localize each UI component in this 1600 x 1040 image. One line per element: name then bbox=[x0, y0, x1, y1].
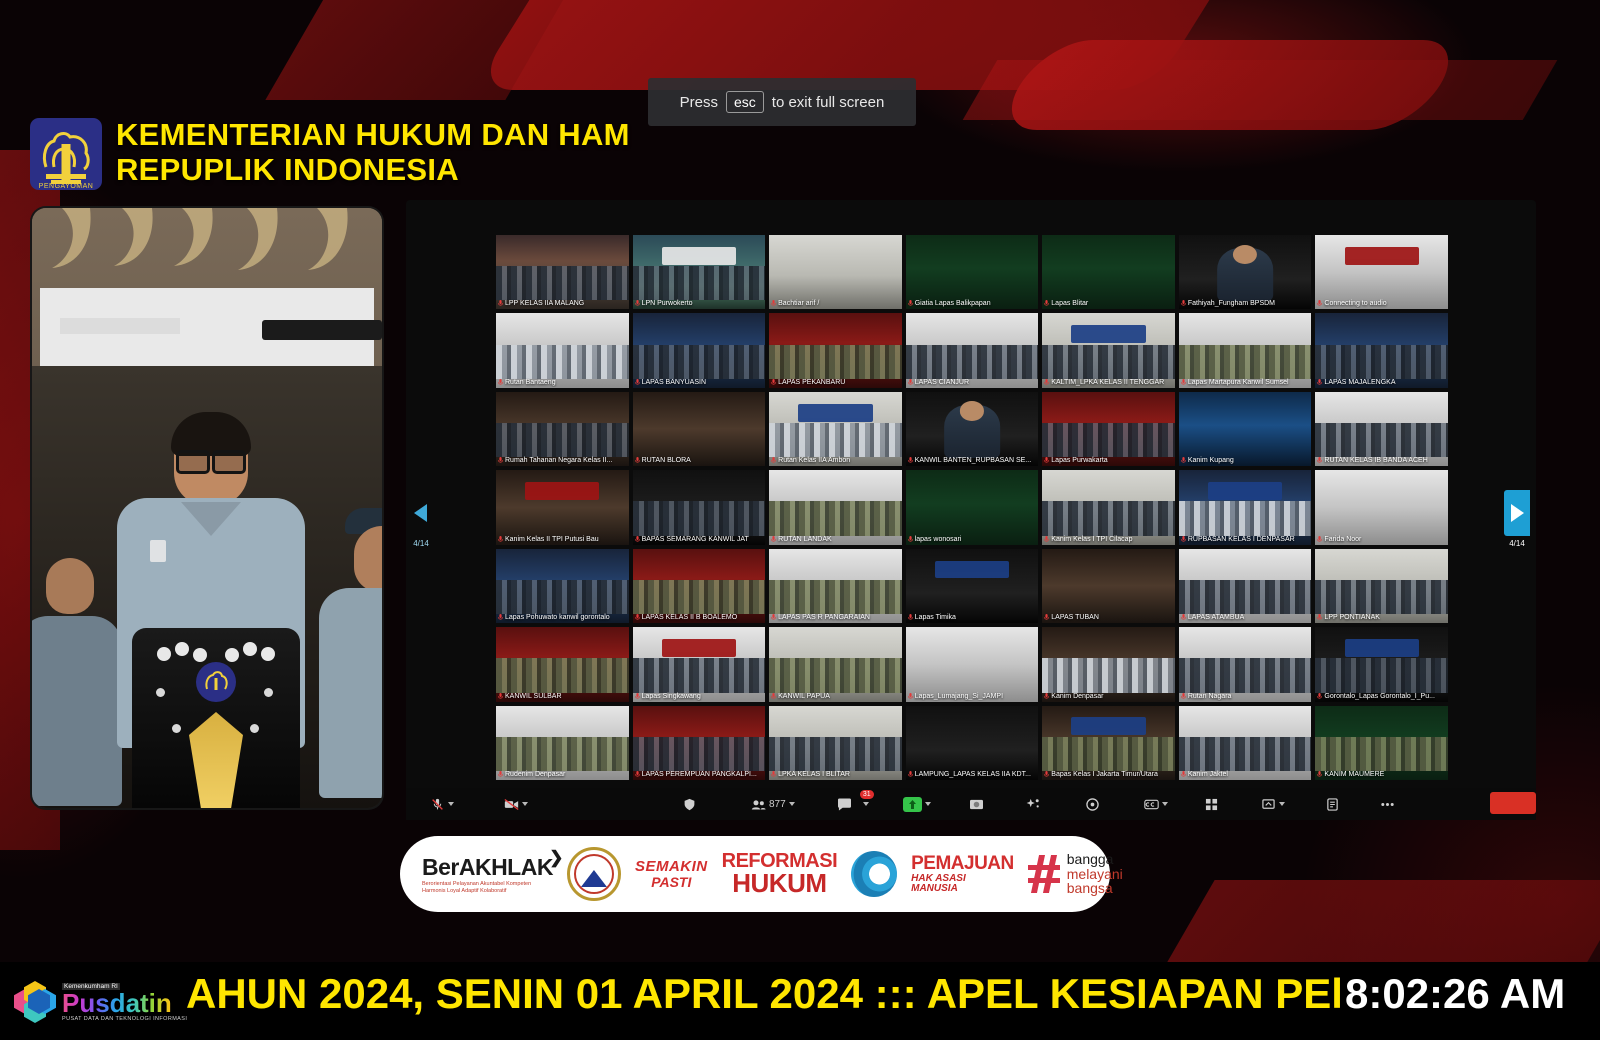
participant-name-label: Bachtiar arif / bbox=[771, 299, 900, 308]
participant-crowd bbox=[1315, 580, 1448, 614]
participant-name-label: Lapas Purwakarta bbox=[1044, 456, 1173, 465]
participant-tile[interactable]: Lapas Singkawang bbox=[633, 627, 766, 701]
participant-name-text: LPKA KELAS I BLITAR bbox=[778, 770, 850, 779]
semakin-line2: PASTI bbox=[635, 875, 708, 890]
participant-name-label: BAPAS SEMARANG KANWIL JAT bbox=[635, 535, 764, 544]
participant-tile[interactable]: LPP PONTIANAK bbox=[1315, 549, 1448, 623]
participant-tile[interactable]: LPP KELAS IIA MALANG bbox=[496, 235, 629, 309]
participant-name-text: LAPAS MAJALENGKA bbox=[1324, 378, 1395, 387]
participant-tile[interactable]: Giatia Lapas Balikpapan bbox=[906, 235, 1039, 309]
microphone-icon bbox=[1181, 614, 1186, 621]
participant-crowd bbox=[769, 658, 902, 692]
participant-name-text: LAPAS PEKANBARU bbox=[778, 378, 845, 387]
pusdatin-hex-icon bbox=[14, 979, 56, 1025]
participant-name-text: LPP KELAS IIA MALANG bbox=[505, 299, 584, 308]
participant-name-label: LPP KELAS IIA MALANG bbox=[498, 299, 627, 308]
projection-screen-strip bbox=[60, 318, 180, 334]
video-button[interactable] bbox=[498, 788, 534, 820]
participant-name-text: Kanim Denpasar bbox=[1051, 692, 1103, 701]
participant-crowd bbox=[496, 737, 629, 771]
participant-tile[interactable]: lapas wonosari bbox=[906, 470, 1039, 544]
participant-tile[interactable]: Lapas Purwakarta bbox=[1042, 392, 1175, 466]
participant-tile[interactable]: Fathiyah_Fungham BPSDM bbox=[1179, 235, 1312, 309]
participant-crowd bbox=[1042, 501, 1175, 535]
participant-tile[interactable]: LAPAS PEREMPUAN PANGKALPI... bbox=[633, 706, 766, 780]
zoom-meeting-window: LPP KELAS IIA MALANGLPN PurwokertoBachti… bbox=[406, 200, 1536, 820]
record-icon bbox=[969, 798, 984, 811]
participant-name-text: Rutan Bantaeng bbox=[505, 378, 556, 387]
participant-name-label: LAPAS PAS R PANGARAIAN bbox=[771, 613, 900, 622]
backdrop-banner bbox=[1345, 247, 1419, 265]
chat-button[interactable]: 31 bbox=[831, 788, 875, 820]
participant-crowd bbox=[1179, 737, 1312, 771]
fullscreen-hint-suffix: to exit full screen bbox=[772, 94, 885, 111]
participant-tile[interactable]: KANWIL BANTEN_RUPBASAN SE... bbox=[906, 392, 1039, 466]
microphone-icon bbox=[498, 771, 503, 778]
participant-tile[interactable]: RUTAN KELAS IB BANDA ACEH bbox=[1315, 392, 1448, 466]
participant-crowd bbox=[633, 501, 766, 535]
participant-name-label: Kanim Jaktel bbox=[1181, 770, 1310, 779]
microphone-icon bbox=[498, 300, 503, 307]
participant-name-text: Lapas Purwakarta bbox=[1051, 456, 1107, 465]
microphone-icon bbox=[771, 379, 776, 386]
screen: Press esc to exit full screen PENGAYOMAN… bbox=[0, 0, 1600, 1040]
participant-tile[interactable]: LAPAS TUBAN bbox=[1042, 549, 1175, 623]
participant-name-text: KALTIM_LPKA KELAS II TENGGAR bbox=[1051, 378, 1164, 387]
microphone-icon bbox=[1181, 536, 1186, 543]
backdrop-banner bbox=[1345, 639, 1419, 657]
participant-name-label: Lapas Blitar bbox=[1044, 299, 1173, 308]
check-mark-icon: ❯ bbox=[549, 848, 563, 868]
participant-video bbox=[1042, 235, 1175, 309]
microphone-icon bbox=[1317, 771, 1322, 778]
participant-name-label: RUTAN LANDAK bbox=[771, 535, 900, 544]
participant-tile[interactable]: LPN Purwokerto bbox=[633, 235, 766, 309]
participant-name-text: LAPAS CIANJUR bbox=[915, 378, 969, 387]
apps-button[interactable] bbox=[1079, 788, 1106, 820]
microphone-icon bbox=[1181, 693, 1186, 700]
participant-name-text: Giatia Lapas Balikpapan bbox=[915, 299, 991, 308]
participant-name-text: RUTAN KELAS IB BANDA ACEH bbox=[1324, 456, 1427, 465]
participant-tile[interactable]: LAPAS CIANJUR bbox=[906, 313, 1039, 387]
participant-name-label: Kanim Kupang bbox=[1181, 456, 1310, 465]
microphone-icon bbox=[1317, 614, 1322, 621]
chevron-up-icon[interactable] bbox=[1162, 802, 1168, 806]
participant-crowd bbox=[1179, 345, 1312, 379]
participant-name-label: RUTAN BLORA bbox=[635, 456, 764, 465]
participant-name-label: Fathiyah_Fungham BPSDM bbox=[1181, 299, 1310, 308]
participant-name-text: Fathiyah_Fungham BPSDM bbox=[1188, 299, 1275, 308]
chevron-up-icon[interactable] bbox=[522, 802, 528, 806]
participant-tile[interactable]: Kanim Kupang bbox=[1179, 392, 1312, 466]
microphone-icon bbox=[1044, 379, 1049, 386]
microphone-icon bbox=[908, 614, 913, 621]
reactions-sparkle-icon bbox=[1026, 798, 1041, 811]
participant-tile[interactable]: Rudenim Denpasar bbox=[496, 706, 629, 780]
participant-crowd bbox=[1315, 737, 1448, 771]
participant-crowd bbox=[633, 658, 766, 692]
podium bbox=[132, 628, 300, 808]
grid-view-icon bbox=[1204, 798, 1219, 811]
backdrop-banner bbox=[798, 404, 872, 422]
participant-name-text: LAPAS TUBAN bbox=[1051, 613, 1099, 622]
participant-name-text: LAMPUNG_LAPAS KELAS IIA KDT... bbox=[915, 770, 1031, 779]
participant-tile[interactable]: LAPAS PEKANBARU bbox=[769, 313, 902, 387]
participant-crowd bbox=[496, 658, 629, 692]
campaign-banner: BerAKHLAK ❯ Berorientasi Pelayanan Akunt… bbox=[400, 836, 1110, 912]
participant-name-text: RUTAN BLORA bbox=[642, 456, 691, 465]
share-screen-button[interactable] bbox=[897, 788, 937, 820]
microphone-icon bbox=[635, 379, 640, 386]
previous-page-arrow[interactable]: 4/14 bbox=[408, 490, 434, 536]
microphone-icon bbox=[908, 457, 913, 464]
participant-video bbox=[1042, 549, 1175, 623]
participant-name-text: BAPAS SEMARANG KANWIL JAT bbox=[642, 535, 749, 544]
zoom-toolbar: 877 31 bbox=[406, 788, 1536, 820]
participant-crowd bbox=[1042, 737, 1175, 771]
berakhlak-logo: BerAKHLAK ❯ Berorientasi Pelayanan Akunt… bbox=[422, 854, 553, 895]
microphone-icon bbox=[1181, 457, 1186, 464]
chat-unread-badge: 31 bbox=[860, 790, 874, 799]
podium-emblem-glyph bbox=[203, 669, 229, 695]
chevron-up-icon[interactable] bbox=[925, 802, 931, 806]
backdrop-banner bbox=[662, 247, 736, 265]
participant-tile[interactable]: Lapas_Lumajang_Si_JAMPI bbox=[906, 627, 1039, 701]
participant-tile[interactable]: Lapas Pohuwato kanwil gorontalo bbox=[496, 549, 629, 623]
participant-name-label: LPKA KELAS I BLITAR bbox=[771, 770, 900, 779]
participant-name-text: RUPBASAN KELAS I DENPASAR bbox=[1188, 535, 1295, 544]
participant-name-text: Farida Noor bbox=[1324, 535, 1361, 544]
participant-name-text: Lapas_Lumajang_Si_JAMPI bbox=[915, 692, 1003, 701]
triangle-left-icon bbox=[414, 504, 428, 522]
participant-tile[interactable]: KANWIL SULBAR bbox=[496, 627, 629, 701]
participant-tile[interactable]: Lapas Timika bbox=[906, 549, 1039, 623]
attendee-head bbox=[354, 526, 382, 592]
participant-name-label: Kanim Kelas I TPI Cilacap bbox=[1044, 535, 1173, 544]
participant-crowd bbox=[633, 345, 766, 379]
participant-crowd bbox=[769, 737, 902, 771]
participant-name-label: Lapas_Lumajang_Si_JAMPI bbox=[908, 692, 1037, 701]
participant-name-label: LAPAS MAJALENGKA bbox=[1317, 378, 1446, 387]
microphone-icon bbox=[635, 457, 640, 464]
participants-count: 877 bbox=[769, 799, 786, 810]
participant-grid: LPP KELAS IIA MALANGLPN PurwokertoBachti… bbox=[496, 235, 1448, 780]
microphone-icon bbox=[1181, 379, 1186, 386]
microphone-icon bbox=[1044, 457, 1049, 464]
pusdatin-name: Pusdatin bbox=[62, 990, 187, 1016]
microphone-icon bbox=[1044, 771, 1049, 778]
backdrop-banner bbox=[1071, 325, 1145, 343]
participant-tile[interactable]: KALTIM_LPKA KELAS II TENGGAR bbox=[1042, 313, 1175, 387]
participant-crowd bbox=[769, 501, 902, 535]
participant-video bbox=[633, 392, 766, 466]
pemajuan-line1: PEMAJUAN bbox=[911, 854, 1014, 873]
participant-crowd bbox=[1179, 658, 1312, 692]
bangga-line3: bangsa bbox=[1067, 881, 1123, 896]
participant-name-label: Lapas Singkawang bbox=[635, 692, 764, 701]
participant-tile[interactable]: Lapas Blitar bbox=[1042, 235, 1175, 309]
participant-crowd bbox=[1042, 345, 1175, 379]
record-button[interactable] bbox=[963, 788, 990, 820]
participant-tile[interactable]: Kanim Kelas II TPI Putusi Bau bbox=[496, 470, 629, 544]
participant-tile[interactable]: LAPAS PAS R PANGARAIAN bbox=[769, 549, 902, 623]
logo-caption: PENGAYOMAN bbox=[30, 183, 102, 190]
participant-tile[interactable]: Farida Noor bbox=[1315, 470, 1448, 544]
microphone-icon bbox=[1044, 614, 1049, 621]
podium-dot bbox=[156, 688, 165, 697]
participant-tile[interactable]: Lapas Martapura Kanwil Sumsel bbox=[1179, 313, 1312, 387]
security-button[interactable] bbox=[676, 788, 703, 820]
ticker-text: AHUN 2024, SENIN 01 APRIL 2024 ::: APEL … bbox=[186, 970, 1343, 1018]
participant-video bbox=[906, 235, 1039, 309]
participant-tile[interactable]: Bachtiar arif / bbox=[769, 235, 902, 309]
participant-tile[interactable]: LPKA KELAS I BLITAR bbox=[769, 706, 902, 780]
berakhlak-subtitle: Berorientasi Pelayanan Akuntabel Kompete… bbox=[422, 881, 553, 895]
semakin-pasti-logo: SEMAKIN PASTI bbox=[635, 859, 708, 889]
participant-name-text: Kanim Kupang bbox=[1188, 456, 1234, 465]
upload-arrow-icon bbox=[907, 799, 918, 810]
podium-motif bbox=[189, 712, 243, 808]
view-button[interactable] bbox=[1198, 788, 1225, 820]
participant-name-text: LPP PONTIANAK bbox=[1324, 613, 1380, 622]
eyeglasses-icon bbox=[176, 450, 246, 468]
fullscreen-hint-banner: Press esc to exit full screen bbox=[648, 78, 916, 126]
whiteboard-icon bbox=[1261, 798, 1276, 811]
chevron-up-icon[interactable] bbox=[448, 802, 454, 806]
participant-crowd bbox=[496, 266, 629, 300]
microphone-icon bbox=[771, 693, 776, 700]
page-title: KEMENTERIAN HUKUM DAN HAM REPUPLIK INDON… bbox=[116, 118, 630, 187]
pusdatin-text: Kemenkumham RI Pusdatin PUSAT DATA DAN T… bbox=[62, 983, 187, 1022]
captions-button[interactable] bbox=[1138, 788, 1174, 820]
participant-tile[interactable]: LAPAS BANYUASIN bbox=[633, 313, 766, 387]
participant-tile[interactable]: Rutan Nagara bbox=[1179, 627, 1312, 701]
closed-captions-icon bbox=[1144, 798, 1159, 811]
backdrop-banner bbox=[935, 561, 1009, 579]
attendee-body bbox=[319, 588, 382, 798]
microphone-icon bbox=[498, 693, 503, 700]
microphone-icon bbox=[635, 300, 640, 307]
microphone-icon bbox=[1317, 693, 1322, 700]
participant-name-text: Lapas Martapura Kanwil Sumsel bbox=[1188, 378, 1289, 387]
clock-display: 8:02:26 AM bbox=[1345, 970, 1565, 1018]
participant-name-label: Farida Noor bbox=[1317, 535, 1446, 544]
participant-name-text: Bapas Kelas I Jakarta Timur/Utara bbox=[1051, 770, 1158, 779]
berakhlak-title: BerAKHLAK ❯ bbox=[422, 854, 553, 881]
participant-name-text: Rutan Nagara bbox=[1188, 692, 1232, 701]
participant-name-text: KANWIL PAPUA bbox=[778, 692, 830, 701]
participant-name-label: Gorontalo_Lapas Gorontalo_I_Pu... bbox=[1317, 692, 1446, 701]
fullscreen-hint-prefix: Press bbox=[680, 94, 718, 111]
participant-tile[interactable]: Kanim Denpasar bbox=[1042, 627, 1175, 701]
triangle-right-icon bbox=[1510, 504, 1524, 522]
speaker-video-feed bbox=[32, 208, 382, 808]
chevron-up-icon[interactable] bbox=[789, 802, 795, 806]
participant-crowd bbox=[769, 345, 902, 379]
ham-wave-icon bbox=[851, 851, 897, 897]
microphone-icon bbox=[635, 771, 640, 778]
participant-name-label: KALTIM_LPKA KELAS II TENGGAR bbox=[1044, 378, 1173, 387]
participant-video bbox=[906, 627, 1039, 701]
participant-name-label: KANWIL PAPUA bbox=[771, 692, 900, 701]
chat-bubble-icon bbox=[837, 798, 852, 811]
bottom-ticker-bar: Kemenkumham RI Pusdatin PUSAT DATA DAN T… bbox=[0, 962, 1600, 1040]
participant-tile[interactable]: RUPBASAN KELAS I DENPASAR bbox=[1179, 470, 1312, 544]
participant-tile[interactable]: LAPAS KELAS II B BOALEMO bbox=[633, 549, 766, 623]
pusdatin-logo: Kemenkumham RI Pusdatin PUSAT DATA DAN T… bbox=[14, 976, 190, 1028]
backdrop-banner bbox=[662, 639, 736, 657]
participant-tile[interactable]: RUTAN BLORA bbox=[633, 392, 766, 466]
participant-name-label: LAPAS PEREMPUAN PANGKALPI... bbox=[635, 770, 764, 779]
participant-name-label: Rutan Bantaeng bbox=[498, 378, 627, 387]
shield-icon bbox=[682, 798, 697, 811]
ellipsis-icon bbox=[1380, 798, 1395, 811]
participant-name-text: lapas wonosari bbox=[915, 535, 962, 544]
attendee-left bbox=[32, 558, 118, 808]
microphone-icon bbox=[1317, 457, 1322, 464]
participant-name-text: LAPAS BANYUASIN bbox=[642, 378, 706, 387]
participant-name-label: Rutan Kelas IIA Ambon bbox=[771, 456, 900, 465]
participant-tile[interactable]: Rumah Tahanan Negara Kelas II... bbox=[496, 392, 629, 466]
participant-name-text: Lapas Blitar bbox=[1051, 299, 1088, 308]
participant-name-label: RUTAN KELAS IB BANDA ACEH bbox=[1317, 456, 1446, 465]
participant-crowd bbox=[633, 266, 766, 300]
chevron-up-icon[interactable] bbox=[1279, 802, 1285, 806]
participant-tile[interactable]: Rutan Kelas IIA Ambon bbox=[769, 392, 902, 466]
participant-name-text: Lapas Timika bbox=[915, 613, 956, 622]
participant-name-label: lapas wonosari bbox=[908, 535, 1037, 544]
participant-tile[interactable]: KANWIL PAPUA bbox=[769, 627, 902, 701]
reformasi-hukum-logo: REFORMASI HUKUM bbox=[722, 852, 838, 896]
microphone-icon bbox=[635, 693, 640, 700]
participant-name-text: Lapas Pohuwato kanwil gorontalo bbox=[505, 613, 610, 622]
participant-tile[interactable]: RUTAN LANDAK bbox=[769, 470, 902, 544]
participant-name-label: KANIM MAUMERE bbox=[1317, 770, 1446, 779]
microphone-icon bbox=[1317, 536, 1322, 543]
participant-tile[interactable]: LAPAS ATAMBUA bbox=[1179, 549, 1312, 623]
participant-name-text: Lapas Singkawang bbox=[642, 692, 701, 701]
participant-crowd bbox=[633, 580, 766, 614]
bangga-melayani-bangsa-logo: bangga melayani bangsa bbox=[1028, 852, 1123, 896]
participant-tile[interactable]: BAPAS SEMARANG KANWIL JAT bbox=[633, 470, 766, 544]
microphone-icon bbox=[771, 457, 776, 464]
participant-name-text: LPN Purwokerto bbox=[642, 299, 693, 308]
microphone-icon bbox=[771, 300, 776, 307]
participant-name-text: Kanim Kelas I TPI Cilacap bbox=[1051, 535, 1132, 544]
logo-base bbox=[46, 174, 86, 179]
bangga-line1: bangga bbox=[1067, 852, 1123, 867]
whiteboard-button[interactable] bbox=[1255, 788, 1291, 820]
page-indicator-left: 4/14 bbox=[408, 539, 434, 548]
microphone-icon bbox=[498, 457, 503, 464]
notes-button[interactable] bbox=[1319, 788, 1346, 820]
backdrop-banner bbox=[1208, 482, 1282, 500]
participant-crowd bbox=[496, 580, 629, 614]
mute-button[interactable] bbox=[424, 788, 460, 820]
participants-button[interactable]: 877 bbox=[745, 788, 801, 820]
participant-name-label: LAPAS CIANJUR bbox=[908, 378, 1037, 387]
participant-tile[interactable]: Kanim Kelas I TPI Cilacap bbox=[1042, 470, 1175, 544]
participant-name-label: KANWIL SULBAR bbox=[498, 692, 627, 701]
participant-tile[interactable]: Rutan Bantaeng bbox=[496, 313, 629, 387]
microphone-icon bbox=[1044, 300, 1049, 307]
participant-tile[interactable]: LAPAS MAJALENGKA bbox=[1315, 313, 1448, 387]
backdrop-banner bbox=[1071, 717, 1145, 735]
participant-tile[interactable]: Bapas Kelas I Jakarta Timur/Utara bbox=[1042, 706, 1175, 780]
microphone-icon bbox=[1317, 300, 1322, 307]
end-meeting-button[interactable] bbox=[1490, 792, 1536, 814]
participant-name-label: Rutan Nagara bbox=[1181, 692, 1310, 701]
microphone-icon bbox=[498, 614, 503, 621]
microphone-icon bbox=[908, 771, 913, 778]
share-screen-icon bbox=[903, 797, 922, 812]
reactions-button[interactable] bbox=[1020, 788, 1047, 820]
participant-name-label: Rudenim Denpasar bbox=[498, 770, 627, 779]
participant-name-text: RUTAN LANDAK bbox=[778, 535, 832, 544]
participant-name-label: LAPAS PEKANBARU bbox=[771, 378, 900, 387]
participant-name-text: Connecting to audio bbox=[1324, 299, 1386, 308]
participant-name-label: LAPAS BANYUASIN bbox=[635, 378, 764, 387]
more-options-button[interactable] bbox=[1374, 788, 1401, 820]
participant-crowd bbox=[1179, 501, 1312, 535]
microphone-icon bbox=[1181, 300, 1186, 307]
participant-crowd bbox=[1315, 658, 1448, 692]
podium-dot bbox=[250, 724, 259, 733]
attendee-right bbox=[322, 508, 382, 808]
participant-crowd bbox=[1042, 423, 1175, 457]
participant-name-text: Gorontalo_Lapas Gorontalo_I_Pu... bbox=[1324, 692, 1435, 701]
berakhlak-title-text: BerAKHLAK bbox=[422, 854, 553, 880]
participant-name-label: Lapas Martapura Kanwil Sumsel bbox=[1181, 378, 1310, 387]
bangga-text: bangga melayani bangsa bbox=[1067, 852, 1123, 896]
esc-key-badge: esc bbox=[726, 91, 764, 113]
participant-tile[interactable]: KANIM MAUMERE bbox=[1315, 706, 1448, 780]
participant-name-text: LAPAS PAS R PANGARAIAN bbox=[778, 613, 870, 622]
backdrop-banner bbox=[525, 482, 599, 500]
participant-name-text: LAPAS KELAS II B BOALEMO bbox=[642, 613, 738, 622]
microphone-icon bbox=[1044, 693, 1049, 700]
participant-video bbox=[906, 549, 1039, 623]
participant-crowd bbox=[633, 737, 766, 771]
participant-video bbox=[1315, 470, 1448, 544]
microphone-icon bbox=[635, 614, 640, 621]
participant-name-text: Kanim Kelas II TPI Putusi Bau bbox=[505, 535, 599, 544]
participant-tile[interactable]: Connecting to audio bbox=[1315, 235, 1448, 309]
microphone-icon bbox=[771, 536, 776, 543]
participant-name-label: LPP PONTIANAK bbox=[1317, 613, 1446, 622]
participant-name-label: RUPBASAN KELAS I DENPASAR bbox=[1181, 535, 1310, 544]
participant-tile[interactable]: Kanim Jaktel bbox=[1179, 706, 1312, 780]
participant-tile[interactable]: Gorontalo_Lapas Gorontalo_I_Pu... bbox=[1315, 627, 1448, 701]
attendee-head bbox=[46, 558, 94, 614]
notes-icon bbox=[1325, 798, 1340, 811]
participant-video bbox=[769, 235, 902, 309]
speaker-head bbox=[174, 418, 248, 506]
participant-name-text: Rutan Kelas IIA Ambon bbox=[778, 456, 850, 465]
participant-tile[interactable]: LAMPUNG_LAPAS KELAS IIA KDT... bbox=[906, 706, 1039, 780]
chevron-up-icon[interactable] bbox=[863, 802, 869, 806]
participant-name-text: KANWIL SULBAR bbox=[505, 692, 562, 701]
participant-name-label: Lapas Timika bbox=[908, 613, 1037, 622]
participants-icon bbox=[751, 798, 766, 811]
bangga-line2: melayani bbox=[1067, 867, 1123, 882]
speaker-id-badge bbox=[150, 540, 166, 562]
pemajuan-ham-logo: PEMAJUAN HAK ASASI MANUSIA bbox=[911, 854, 1014, 894]
next-page-arrow[interactable]: 4/14 bbox=[1504, 490, 1530, 536]
participant-name-text: Kanim Jaktel bbox=[1188, 770, 1228, 779]
participant-person bbox=[944, 405, 1000, 459]
participant-name-text: Bachtiar arif / bbox=[778, 299, 819, 308]
